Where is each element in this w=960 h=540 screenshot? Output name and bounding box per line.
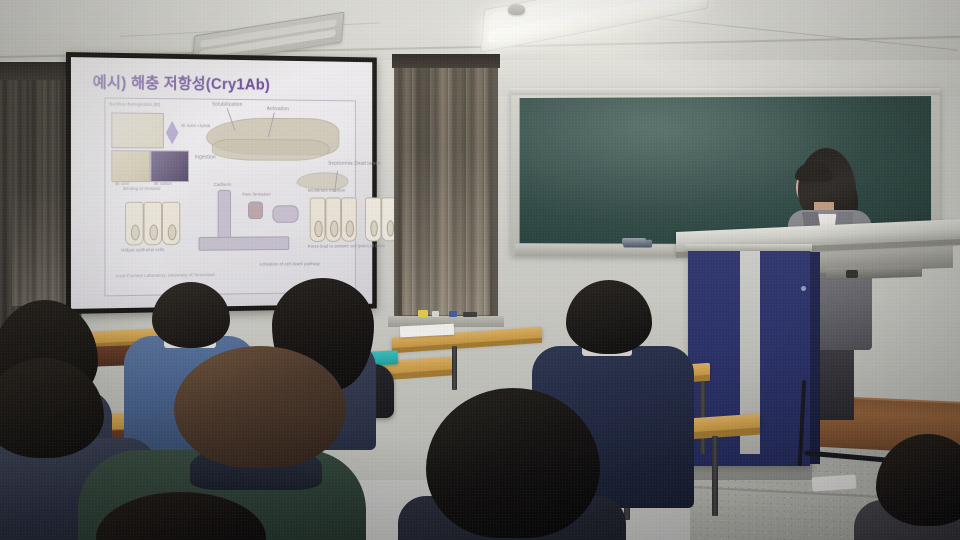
- student-right-edge: [854, 452, 960, 540]
- student-foreground-head: [96, 492, 266, 540]
- projection-screen: 예시) 해충 저항성(Cry1Ab) Bacillus thuringiensi…: [66, 52, 377, 314]
- desk-leg: [452, 346, 457, 390]
- sill-object-blue: [449, 311, 457, 317]
- presenter-fringe: [795, 162, 833, 182]
- smoke-detector-icon: [508, 4, 525, 15]
- center-curtain-folds: [394, 58, 498, 320]
- teaching-desk-bolt: [846, 270, 858, 278]
- desk-leg: [712, 436, 718, 516]
- lecture-hall-photo: 예시) 해충 저항성(Cry1Ab) Bacillus thuringiensi…: [0, 0, 960, 540]
- chalkboard-top-rail: [511, 88, 940, 95]
- center-curtain-rail: [392, 54, 500, 68]
- sill-object-yellow: [418, 310, 428, 317]
- podium-top-edge: [686, 244, 812, 251]
- podium-knob: [801, 286, 806, 291]
- podium-right-side: [810, 252, 820, 464]
- sill-object-white: [432, 311, 439, 317]
- desk-remote-control: [622, 238, 646, 245]
- sill-object-dark: [463, 312, 477, 317]
- student-foreground-center: [398, 388, 628, 540]
